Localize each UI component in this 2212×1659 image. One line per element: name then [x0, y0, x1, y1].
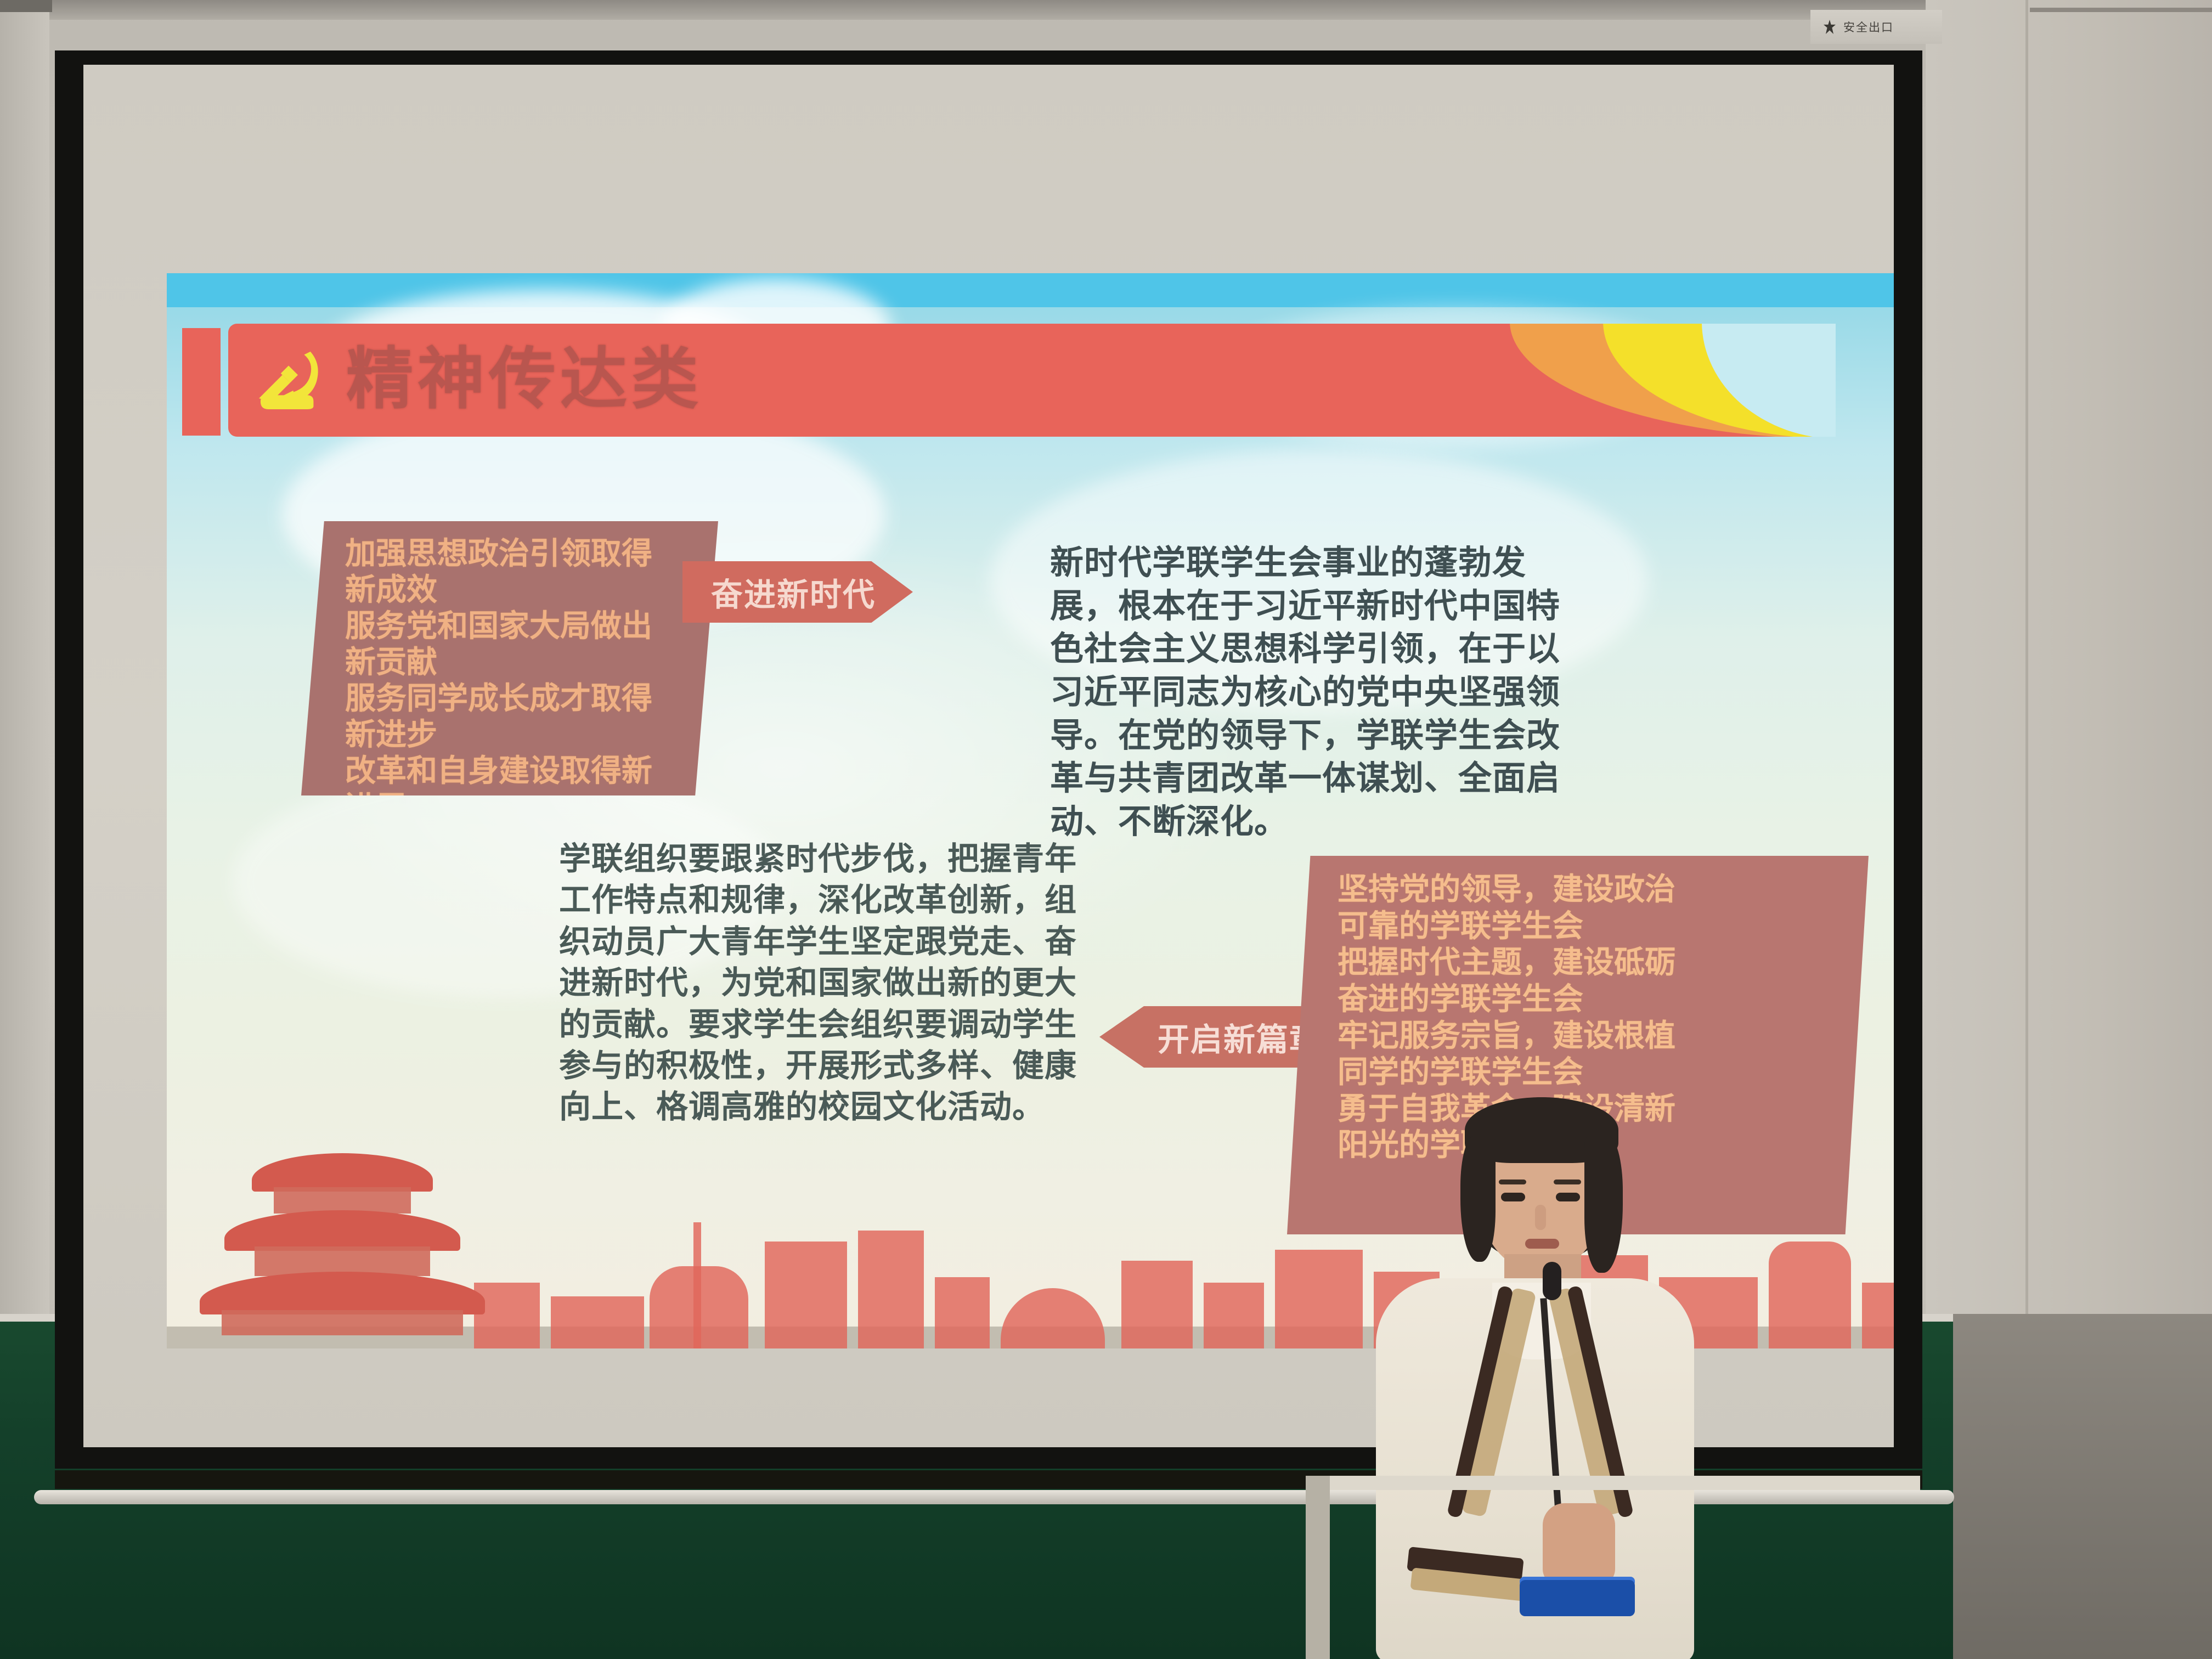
goal-line: 可靠的学联学生会 [1338, 908, 1830, 945]
podium-left-edge [1306, 1476, 1330, 1659]
exit-sign-label: 安全出口 [1843, 19, 1894, 35]
ceiling-panel-line [2030, 8, 2212, 12]
skyline-building [935, 1277, 990, 1348]
party-emblem-icon [245, 338, 332, 421]
skyline-building [858, 1231, 924, 1348]
tag-forge-new-era-label: 奋进新时代 [711, 569, 876, 615]
presenter-mouth [1525, 1239, 1559, 1249]
ceiling-band [49, 0, 1926, 20]
goal-line: 把握时代主题，建设砥砺 [1338, 944, 1830, 981]
skyline-building [1275, 1250, 1363, 1348]
podium-top-surface [1306, 1476, 1920, 1490]
microphone-head[interactable] [1543, 1262, 1561, 1300]
right-paragraph: 新时代学联学生会事业的蓬勃发展，根本在于习近平新时代中国特色社会主义思想科学引领… [1050, 541, 1593, 843]
rainbow-decoration [1488, 324, 1836, 437]
presenter-nose [1535, 1205, 1546, 1230]
goal-line: 同学的学联学生会 [1338, 1054, 1830, 1091]
slide-header-banner: 精神传达类 [228, 324, 1836, 437]
presenter-eye-right [1556, 1193, 1580, 1201]
header-left-accent-bar [182, 328, 221, 436]
exit-sign: 安全出口 [1810, 10, 1942, 44]
achievement-line: 服务党和国家大局做出新贡献 [345, 608, 680, 680]
goal-line: 奋进的学联学生会 [1338, 981, 1830, 1018]
slide-title: 精神传达类 [346, 346, 703, 413]
classroom-scene: 安全出口 [0, 0, 2212, 1659]
pagoda-illustration [200, 1153, 485, 1334]
wall-seam-line [2025, 0, 2028, 1404]
skyline-antenna [693, 1222, 701, 1348]
right-wall-column [1926, 0, 2212, 1404]
presenter-eyebrow-right [1554, 1180, 1581, 1184]
skyline-building [551, 1296, 644, 1348]
lower-left-paragraph: 学联组织要跟紧时代步伐，把握青年工作特点和规律，深化改革创新，组织动员广大青年学… [559, 838, 1108, 1128]
presenter-hair-right [1584, 1136, 1623, 1273]
achievement-line: 加强思想政治引领取得新成效 [345, 535, 680, 608]
presenter-eyebrow-left [1499, 1180, 1526, 1184]
skyline-building [765, 1242, 847, 1348]
right-lower-wall [1953, 1314, 2212, 1659]
skyline-building [1121, 1261, 1193, 1348]
skyline-building [1204, 1283, 1264, 1348]
presenter-hair-left [1460, 1136, 1496, 1262]
tag-forge-new-era: 奋进新时代 [682, 561, 913, 623]
achievements-box: 加强思想政治引领取得新成效 服务党和国家大局做出新贡献 服务同学成长成才取得新进… [301, 521, 718, 795]
ceiling-shadow-left [0, 0, 52, 12]
podium [1306, 1476, 1920, 1659]
tag-open-new-chapter-label: 开启新篇章 [1158, 1014, 1322, 1060]
skyline-building [1862, 1283, 1894, 1348]
skyline-pagoda-right [1769, 1242, 1851, 1348]
goal-line: 牢记服务宗旨，建设根植 [1338, 1018, 1830, 1054]
left-wall-column [0, 0, 49, 1404]
exit-sign-icon [1824, 20, 1836, 34]
skyline-arch [1001, 1288, 1105, 1348]
presenter-eye-left [1501, 1193, 1525, 1201]
goal-line: 坚持党的领导，建设政治 [1338, 871, 1830, 908]
achievement-line: 服务同学成长成才取得新进步 [345, 680, 680, 753]
